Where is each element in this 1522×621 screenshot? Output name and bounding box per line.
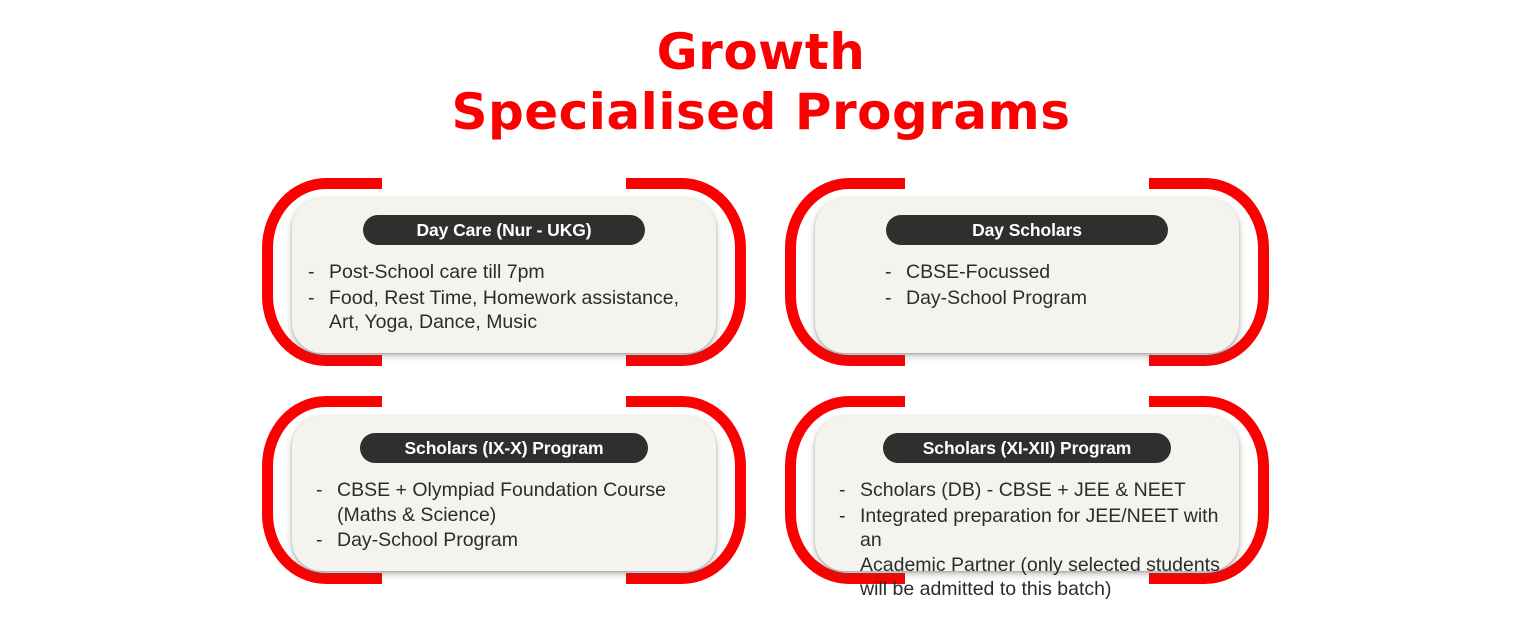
list-item: -Food, Rest Time, Homework assistance, A… bbox=[306, 286, 722, 335]
list-item: -Post-School care till 7pm bbox=[306, 260, 722, 285]
program-card-grid: Day Care (Nur - UKG) -Post-School care t… bbox=[0, 0, 1522, 621]
card-heading: Scholars (XI-XII) Program bbox=[883, 433, 1171, 463]
card-body: Day Care (Nur - UKG) -Post-School care t… bbox=[292, 198, 716, 353]
list-item-text: CBSE-Focussed bbox=[906, 261, 1050, 283]
program-card-scholars-ix-x[interactable]: Scholars (IX-X) Program -CBSE + Olympiad… bbox=[262, 391, 746, 587]
card-heading: Scholars (IX-X) Program bbox=[360, 433, 648, 463]
list-item-text: Day-School Program bbox=[337, 529, 518, 551]
card-bullet-list: -CBSE-Focussed -Day-School Program bbox=[883, 260, 1245, 311]
card-bullet-list: -CBSE + Olympiad Foundation Course (Math… bbox=[314, 478, 722, 554]
list-item-text: Day-School Program bbox=[906, 287, 1087, 309]
bullet-dash-icon: - bbox=[316, 528, 323, 553]
card-bullet-list: -Scholars (DB) - CBSE + JEE & NEET -Inte… bbox=[837, 478, 1245, 603]
list-item-text: Food, Rest Time, Homework assistance, Ar… bbox=[329, 287, 679, 334]
list-item: -Scholars (DB) - CBSE + JEE & NEET bbox=[837, 478, 1245, 503]
bullet-dash-icon: - bbox=[885, 260, 892, 285]
program-card-day-scholars[interactable]: Day Scholars -CBSE-Focussed -Day-School … bbox=[785, 173, 1269, 369]
bullet-dash-icon: - bbox=[885, 286, 892, 311]
bullet-dash-icon: - bbox=[316, 478, 323, 503]
list-item-text: Scholars (DB) - CBSE + JEE & NEET bbox=[860, 479, 1186, 501]
program-card-scholars-xi-xii[interactable]: Scholars (XI-XII) Program -Scholars (DB)… bbox=[785, 391, 1269, 587]
bullet-dash-icon: - bbox=[308, 260, 315, 285]
bullet-dash-icon: - bbox=[839, 478, 846, 503]
list-item: -CBSE-Focussed bbox=[883, 260, 1245, 285]
card-heading: Day Scholars bbox=[886, 215, 1168, 245]
list-item: -CBSE + Olympiad Foundation Course (Math… bbox=[314, 478, 722, 527]
list-item-text: Integrated preparation for JEE/NEET with… bbox=[860, 505, 1220, 601]
card-body: Scholars (XI-XII) Program -Scholars (DB)… bbox=[815, 416, 1239, 571]
list-item: -Day-School Program bbox=[314, 528, 722, 553]
bullet-dash-icon: - bbox=[308, 286, 315, 311]
card-heading: Day Care (Nur - UKG) bbox=[363, 215, 645, 245]
card-body: Scholars (IX-X) Program -CBSE + Olympiad… bbox=[292, 416, 716, 571]
list-item-text: CBSE + Olympiad Foundation Course (Maths… bbox=[337, 479, 666, 526]
bullet-dash-icon: - bbox=[839, 504, 846, 529]
list-item: -Integrated preparation for JEE/NEET wit… bbox=[837, 504, 1245, 602]
card-bullet-list: -Post-School care till 7pm -Food, Rest T… bbox=[306, 260, 722, 336]
list-item: -Day-School Program bbox=[883, 286, 1245, 311]
card-body: Day Scholars -CBSE-Focussed -Day-School … bbox=[815, 198, 1239, 353]
list-item-text: Post-School care till 7pm bbox=[329, 261, 545, 283]
program-card-day-care[interactable]: Day Care (Nur - UKG) -Post-School care t… bbox=[262, 173, 746, 369]
